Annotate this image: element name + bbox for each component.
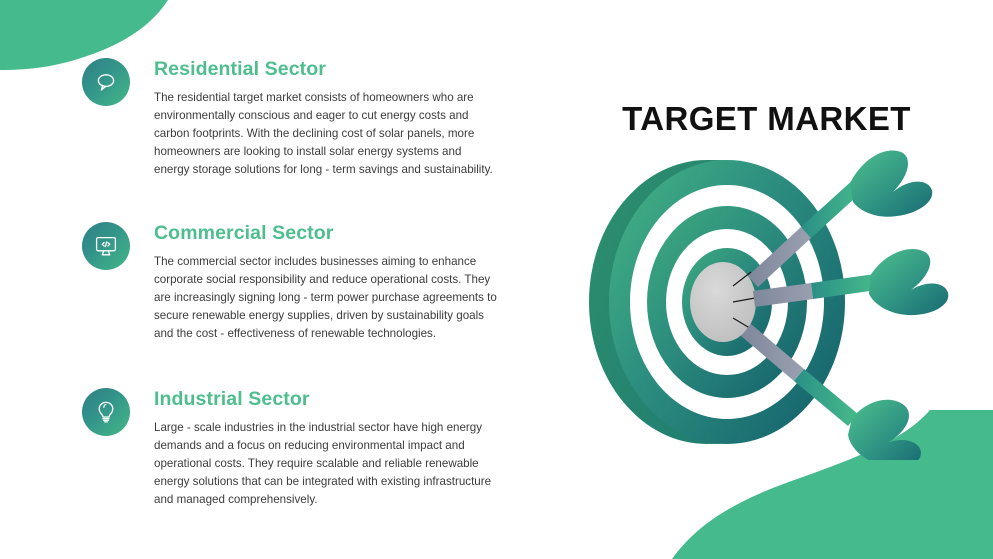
right-panel: TARGET MARKET: [540, 0, 993, 559]
sector-body: Commercial Sector The commercial sector …: [154, 222, 512, 343]
sector-title: Commercial Sector: [154, 222, 512, 244]
sector-body: Residential Sector The residential targe…: [154, 58, 512, 179]
dart-1-flight: [850, 150, 932, 216]
sector-body: Industrial Sector Large - scale industri…: [154, 388, 512, 509]
sector-title: Industrial Sector: [154, 388, 512, 410]
dart-2-flight: [869, 249, 948, 315]
sector-description: Large - scale industries in the industri…: [154, 419, 499, 508]
sector-list: Residential Sector The residential targe…: [0, 0, 540, 559]
sector-description: The residential target market consists o…: [154, 89, 499, 178]
sector-block-commercial[interactable]: Commercial Sector The commercial sector …: [82, 222, 512, 343]
monitor-code-icon: [82, 222, 130, 270]
lightbulb-icon: [82, 388, 130, 436]
sector-block-residential[interactable]: Residential Sector The residential targe…: [82, 58, 512, 179]
dartboard-illustration: [555, 150, 975, 460]
speech-bubble-icon: [82, 58, 130, 106]
slide-root: Residential Sector The residential targe…: [0, 0, 993, 559]
sector-block-industrial[interactable]: Industrial Sector Large - scale industri…: [82, 388, 512, 509]
sector-title: Residential Sector: [154, 58, 512, 80]
target-rings: [609, 160, 845, 444]
dart-3-flight: [848, 400, 921, 460]
sector-description: The commercial sector includes businesse…: [154, 253, 499, 342]
page-title: TARGET MARKET: [540, 100, 993, 138]
